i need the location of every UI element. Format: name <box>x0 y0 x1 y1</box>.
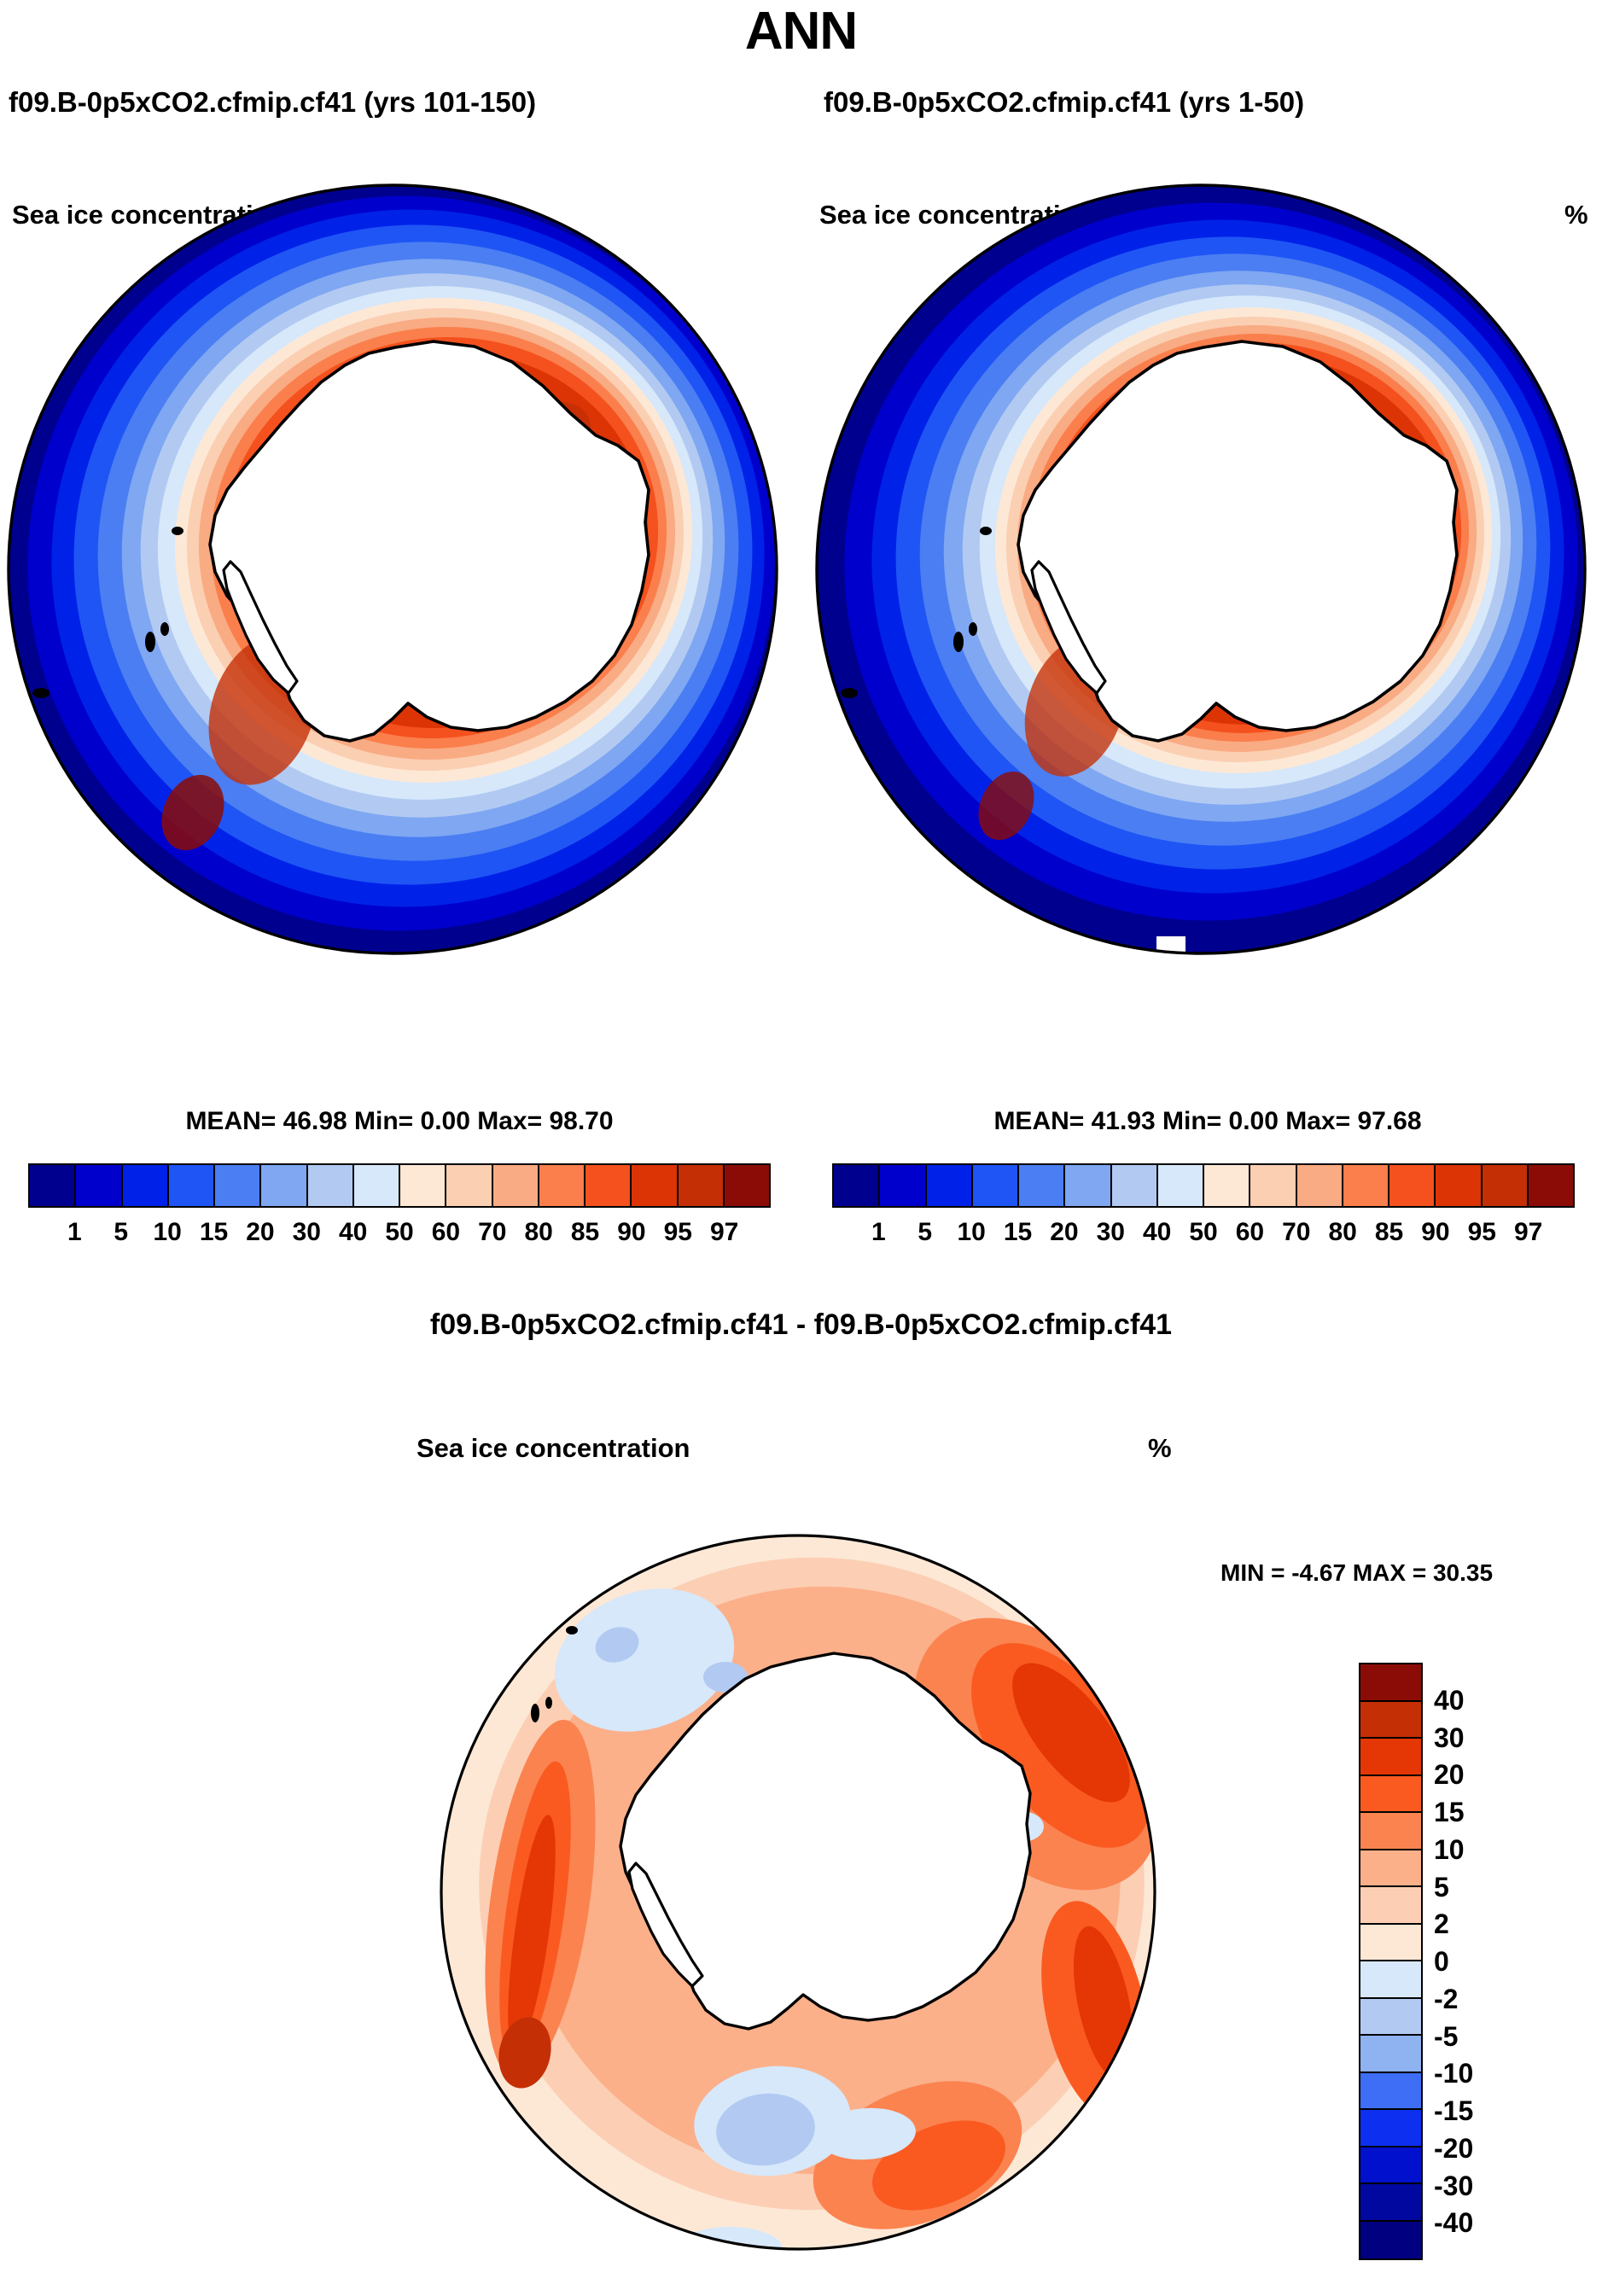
colorbar-v-tick-3: 15 <box>1434 1797 1465 1827</box>
colorbar-v-band-14 <box>1360 2184 1421 2222</box>
colorbar-tick-2: 10 <box>153 1216 181 1249</box>
colorbar-tick-10: 80 <box>1328 1216 1356 1249</box>
colorbar-v-band-5 <box>1360 1850 1421 1888</box>
colorbar-v-tick-14: -40 <box>1434 2207 1473 2238</box>
colorbar-v-tick-12: -20 <box>1434 2133 1473 2164</box>
map-right[interactable] <box>815 164 1600 1052</box>
colorbar-tick-0: 1 <box>67 1216 82 1249</box>
colorbar-tick-6: 40 <box>339 1216 367 1249</box>
colorbar-difference-bands <box>1359 1663 1423 2260</box>
colorbar-band-3 <box>973 1165 1019 1206</box>
colorbar-left[interactable]: 1510152030405060708085909597 <box>28 1163 771 1252</box>
colorbar-tick-6: 40 <box>1143 1216 1171 1249</box>
colorbar-tick-4: 20 <box>246 1216 274 1249</box>
colorbar-tick-3: 15 <box>200 1216 228 1249</box>
colorbar-v-tick-13: -30 <box>1434 2171 1473 2201</box>
colorbar-band-5 <box>261 1165 307 1206</box>
colorbar-v-band-4 <box>1360 1813 1421 1850</box>
colorbar-band-8 <box>400 1165 446 1206</box>
colorbar-tick-14: 97 <box>1514 1216 1542 1249</box>
colorbar-tick-1: 5 <box>114 1216 128 1249</box>
colorbar-v-band-0 <box>1360 1664 1421 1702</box>
colorbar-tick-9: 70 <box>478 1216 506 1249</box>
colorbar-v-tick-5: 5 <box>1434 1872 1449 1903</box>
map-left[interactable] <box>7 164 792 1052</box>
colorbar-v-tick-4: 10 <box>1434 1834 1465 1865</box>
colorbar-band-2 <box>927 1165 973 1206</box>
colorbar-band-15 <box>725 1165 769 1206</box>
main-title: ANN <box>0 2 1602 61</box>
colorbar-band-0 <box>30 1165 76 1206</box>
map-left-field <box>7 164 792 1000</box>
colorbar-band-4 <box>215 1165 261 1206</box>
colorbar-tick-5: 30 <box>1097 1216 1125 1249</box>
colorbar-band-6 <box>1112 1165 1158 1206</box>
colorbar-v-tick-6: 2 <box>1434 1908 1449 1939</box>
case-title-left: f09.B-0p5xCO2.cfmip.cf41 (yrs 101-150) <box>9 85 536 119</box>
colorbar-band-15 <box>1529 1165 1573 1206</box>
colorbar-band-10 <box>493 1165 539 1206</box>
colorbar-difference-ticks: 4030201510520-2-5-10-15-20-30-40 <box>1434 1663 1553 2260</box>
colorbar-left-ticks: 1510152030405060708085909597 <box>28 1216 771 1252</box>
colorbar-right-ticks: 1510152030405060708085909597 <box>832 1216 1575 1252</box>
colorbar-v-band-15 <box>1360 2222 1421 2259</box>
colorbar-v-band-13 <box>1360 2147 1421 2185</box>
colorbar-tick-10: 80 <box>524 1216 552 1249</box>
colorbar-tick-13: 95 <box>664 1216 692 1249</box>
colorbar-tick-0: 1 <box>871 1216 886 1249</box>
colorbar-difference[interactable]: 4030201510520-2-5-10-15-20-30-40 <box>1359 1663 1572 2260</box>
colorbar-tick-8: 60 <box>1236 1216 1264 1249</box>
colorbar-v-band-12 <box>1360 2110 1421 2147</box>
colorbar-band-9 <box>1250 1165 1296 1206</box>
colorbar-v-tick-2: 20 <box>1434 1759 1465 1790</box>
colorbar-tick-9: 70 <box>1282 1216 1310 1249</box>
colorbar-v-tick-9: -5 <box>1434 2021 1458 2052</box>
colorbar-band-12 <box>585 1165 632 1206</box>
colorbar-v-band-3 <box>1360 1776 1421 1814</box>
colorbar-tick-11: 85 <box>571 1216 599 1249</box>
colorbar-v-band-8 <box>1360 1961 1421 1999</box>
map-difference[interactable] <box>388 1498 1208 2296</box>
colorbar-v-band-10 <box>1360 2036 1421 2073</box>
colorbar-band-12 <box>1389 1165 1436 1206</box>
colorbar-v-tick-10: -10 <box>1434 2058 1473 2089</box>
right-stats: MEAN= 41.93 Min= 0.00 Max= 97.68 <box>815 1106 1600 1137</box>
colorbar-band-13 <box>1436 1165 1482 1206</box>
colorbar-v-band-1 <box>1360 1702 1421 1739</box>
colorbar-band-9 <box>446 1165 492 1206</box>
colorbar-v-band-6 <box>1360 1887 1421 1925</box>
colorbar-band-7 <box>354 1165 400 1206</box>
colorbar-tick-14: 97 <box>710 1216 738 1249</box>
colorbar-band-13 <box>632 1165 678 1206</box>
colorbar-tick-12: 90 <box>617 1216 645 1249</box>
colorbar-band-6 <box>308 1165 354 1206</box>
diff-units-label: % <box>1148 1432 1172 1465</box>
colorbar-band-5 <box>1065 1165 1111 1206</box>
colorbar-band-1 <box>76 1165 122 1206</box>
diff-field-label: Sea ice concentration <box>417 1432 690 1465</box>
colorbar-band-2 <box>123 1165 169 1206</box>
colorbar-tick-11: 85 <box>1375 1216 1403 1249</box>
colorbar-tick-12: 90 <box>1421 1216 1449 1249</box>
colorbar-band-10 <box>1297 1165 1343 1206</box>
map-difference-field <box>420 1503 1208 2283</box>
colorbar-tick-7: 50 <box>1189 1216 1217 1249</box>
colorbar-right[interactable]: 1510152030405060708085909597 <box>832 1163 1575 1252</box>
colorbar-band-11 <box>1343 1165 1389 1206</box>
colorbar-band-7 <box>1158 1165 1204 1206</box>
colorbar-band-1 <box>880 1165 926 1206</box>
colorbar-v-tick-1: 30 <box>1434 1722 1465 1753</box>
colorbar-tick-4: 20 <box>1050 1216 1078 1249</box>
colorbar-right-bands <box>832 1163 1575 1208</box>
colorbar-band-0 <box>834 1165 880 1206</box>
case-title-right: f09.B-0p5xCO2.cfmip.cf41 (yrs 1-50) <box>824 85 1304 119</box>
colorbar-v-band-9 <box>1360 1999 1421 2037</box>
colorbar-v-tick-8: -2 <box>1434 1984 1458 2014</box>
colorbar-tick-8: 60 <box>432 1216 460 1249</box>
colorbar-v-tick-11: -15 <box>1434 2095 1473 2126</box>
colorbar-v-band-11 <box>1360 2073 1421 2111</box>
colorbar-tick-13: 95 <box>1468 1216 1496 1249</box>
map-right-field <box>815 164 1600 988</box>
colorbar-tick-7: 50 <box>385 1216 413 1249</box>
colorbar-v-tick-7: 0 <box>1434 1946 1449 1977</box>
colorbar-band-8 <box>1204 1165 1250 1206</box>
left-stats: MEAN= 46.98 Min= 0.00 Max= 98.70 <box>7 1106 792 1137</box>
colorbar-tick-5: 30 <box>293 1216 321 1249</box>
diff-minmax-stats: MIN = -4.67 MAX = 30.35 <box>1220 1559 1493 1588</box>
colorbar-tick-1: 5 <box>918 1216 932 1249</box>
colorbar-band-3 <box>169 1165 215 1206</box>
colorbar-band-14 <box>1483 1165 1529 1206</box>
colorbar-v-band-7 <box>1360 1925 1421 1962</box>
colorbar-tick-2: 10 <box>957 1216 985 1249</box>
colorbar-v-band-2 <box>1360 1739 1421 1776</box>
colorbar-band-11 <box>539 1165 585 1206</box>
colorbar-band-14 <box>679 1165 725 1206</box>
colorbar-band-4 <box>1019 1165 1065 1206</box>
difference-title: f09.B-0p5xCO2.cfmip.cf41 - f09.B-0p5xCO2… <box>0 1306 1602 1343</box>
colorbar-v-tick-0: 40 <box>1434 1685 1465 1716</box>
colorbar-tick-3: 15 <box>1004 1216 1032 1249</box>
colorbar-left-bands <box>28 1163 771 1208</box>
